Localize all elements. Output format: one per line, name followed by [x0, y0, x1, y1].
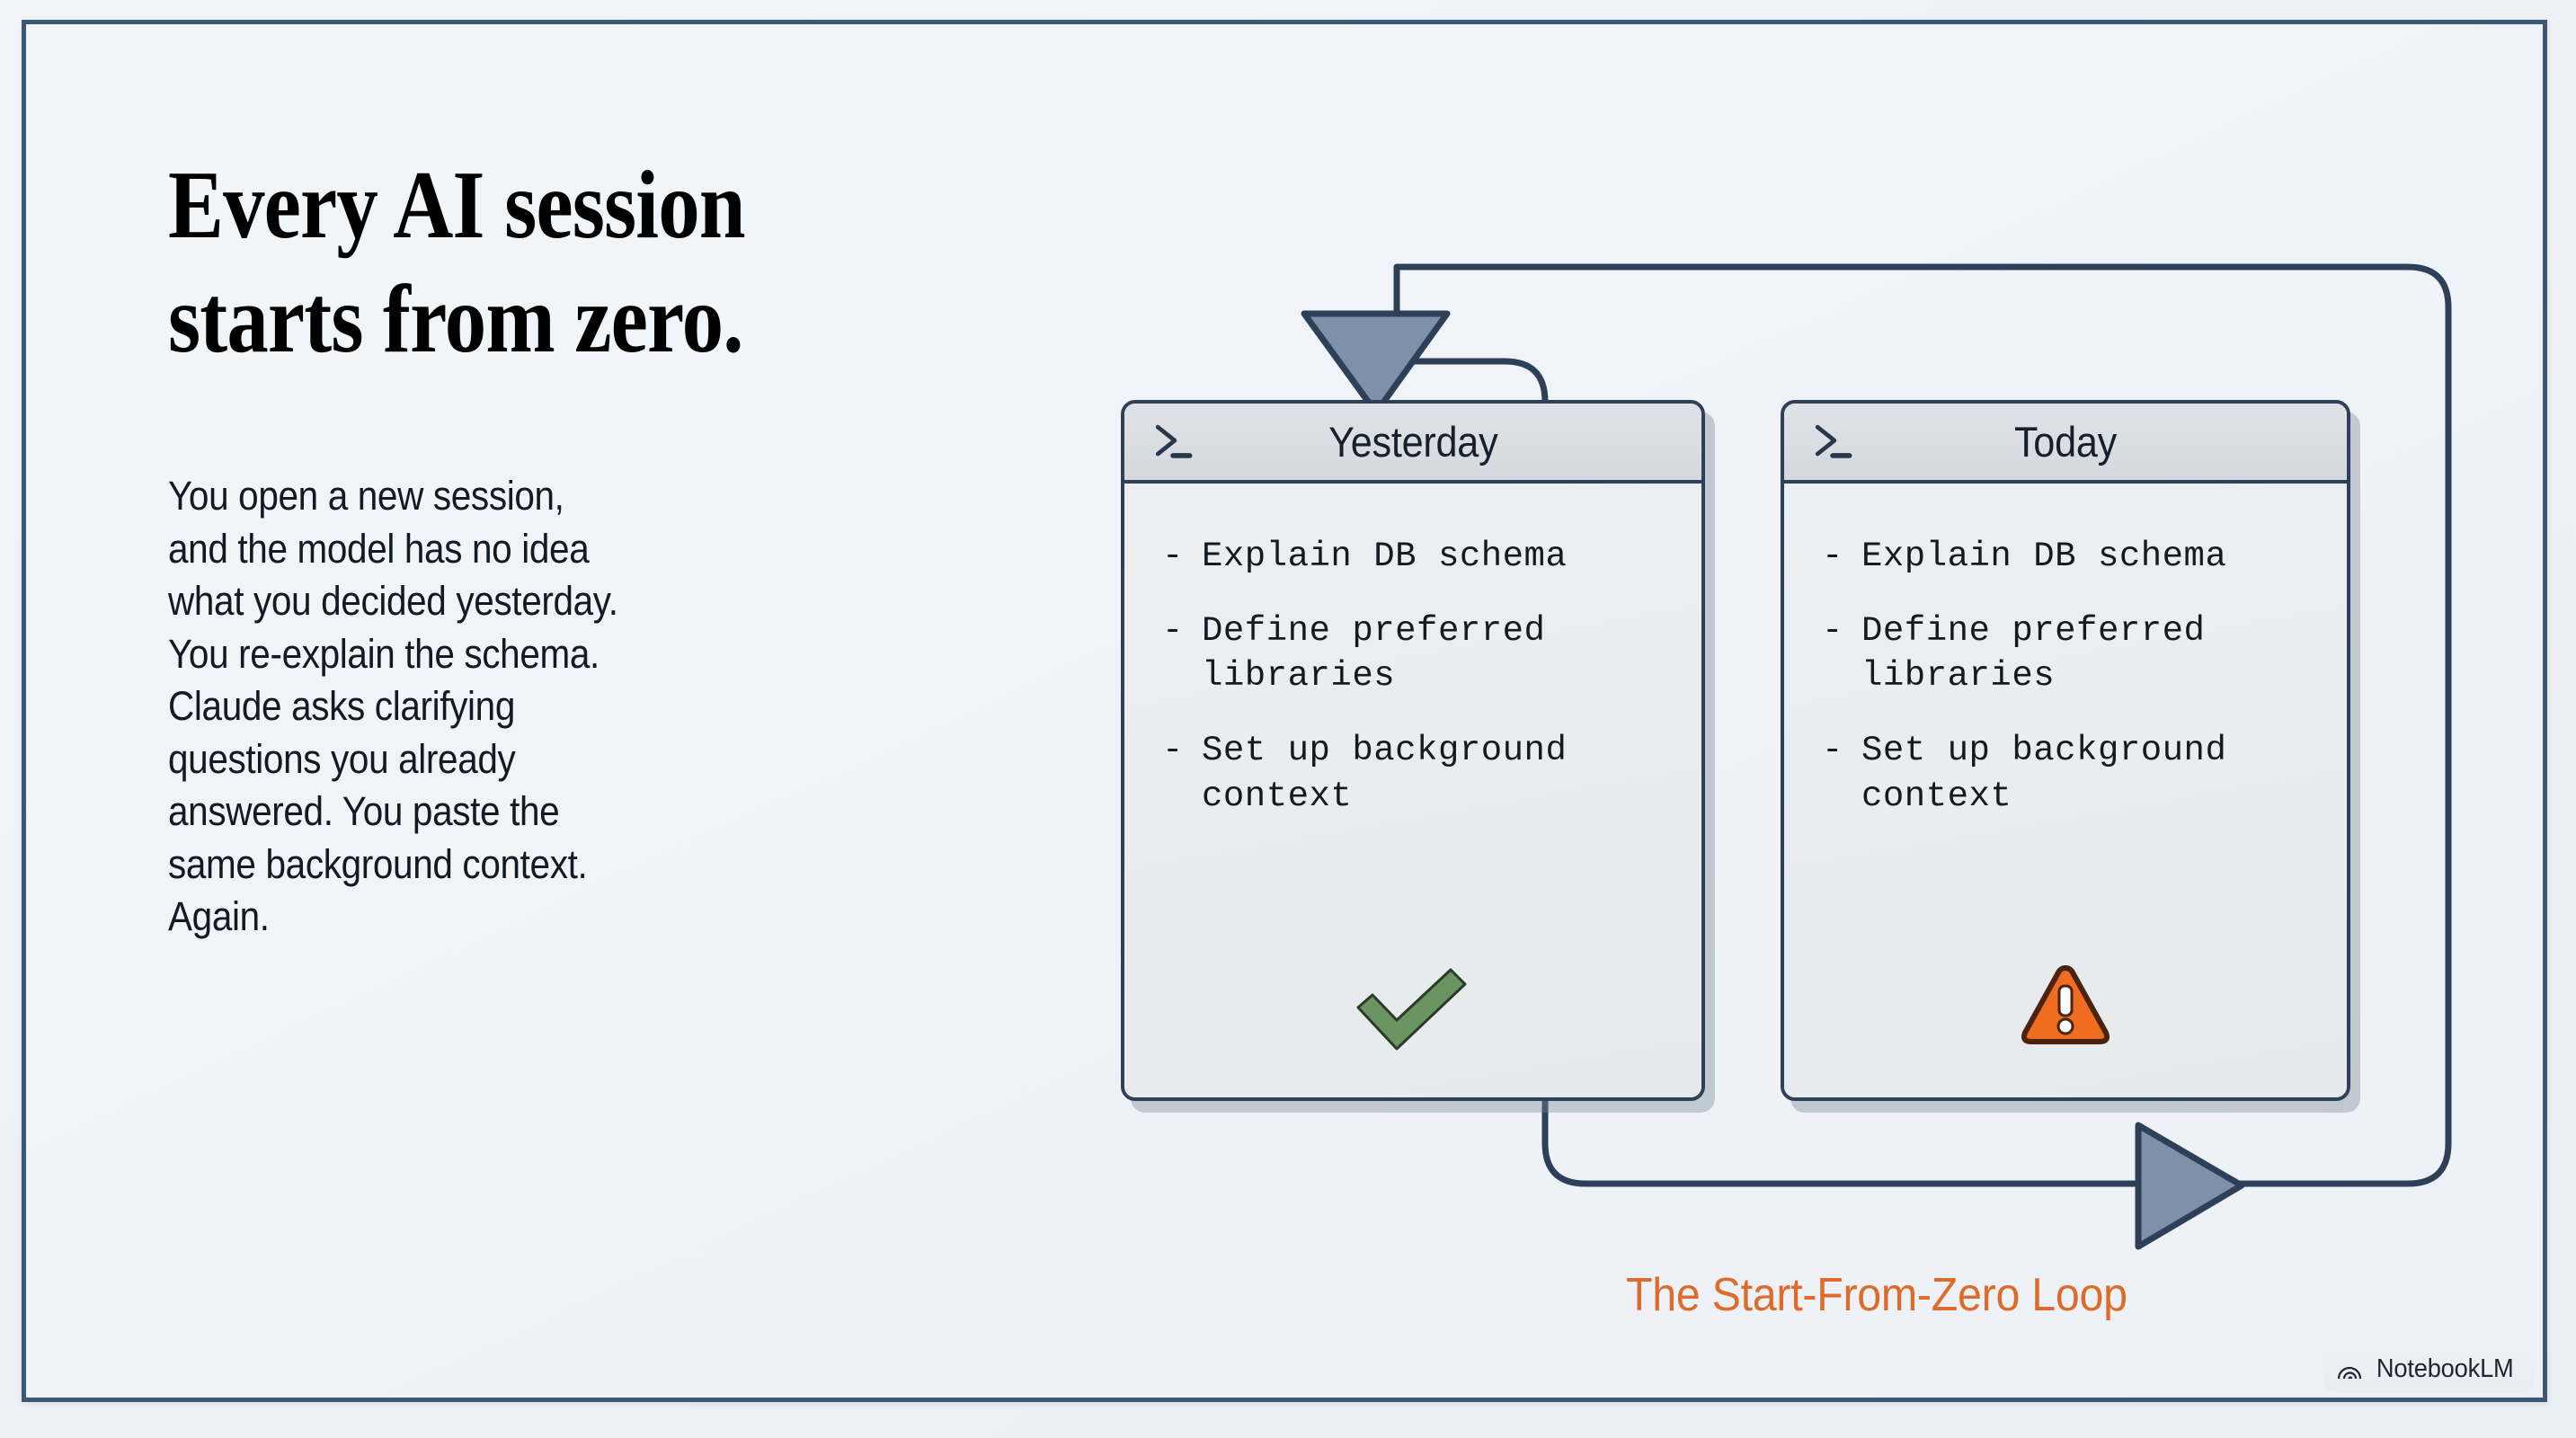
terminal-card-yesterday[interactable]: Yesterday - Explain DB schema - Define p…	[1121, 400, 1705, 1101]
list-item: - Explain DB schema	[1815, 534, 2316, 580]
terminal-card-today[interactable]: Today - Explain DB schema - Define prefe…	[1781, 400, 2350, 1101]
notebooklm-watermark: NotebookLM	[2323, 1346, 2534, 1392]
list-item: - Set up background context	[1155, 728, 1671, 819]
bullet-dash: -	[1822, 608, 1843, 654]
terminal-prompt-icon	[1808, 417, 1858, 467]
bullet-dash: -	[1822, 534, 1843, 580]
list-item-label: Set up background context	[1202, 731, 1567, 816]
task-list: - Explain DB schema - Define preferred l…	[1815, 534, 2316, 819]
bullet-dash: -	[1162, 534, 1184, 580]
slide-frame: Every AI session starts from zero. You o…	[22, 20, 2547, 1402]
body-paragraph: You open a new session, and the model ha…	[168, 470, 621, 944]
terminal-prompt-icon	[1148, 417, 1198, 467]
warning-triangle-icon	[2017, 961, 2114, 1051]
bullet-dash: -	[1162, 608, 1184, 654]
card-title: Today	[2014, 417, 2117, 466]
list-item-label: Define preferred libraries	[1202, 611, 1545, 697]
list-item: - Define preferred libraries	[1815, 608, 2316, 699]
bullet-dash: -	[1822, 728, 1843, 774]
list-item-label: Define preferred libraries	[1861, 611, 2205, 697]
loop-caption: The Start-From-Zero Loop	[1626, 1268, 2127, 1322]
page-title: Every AI session starts from zero.	[168, 148, 848, 377]
slide-canvas: Every AI session starts from zero. You o…	[0, 0, 2576, 1438]
task-list: - Explain DB schema - Define preferred l…	[1155, 534, 1671, 819]
card-body: - Explain DB schema - Define preferred l…	[1784, 484, 2347, 1101]
list-item: - Set up background context	[1815, 728, 2316, 819]
list-item: - Define preferred libraries	[1155, 608, 1671, 699]
check-mark-icon	[1346, 961, 1480, 1051]
notebooklm-logo-icon	[2336, 1356, 2363, 1383]
list-item-label: Explain DB schema	[1861, 537, 2226, 576]
card-title: Yesterday	[1328, 417, 1497, 466]
list-item: - Explain DB schema	[1155, 534, 1671, 580]
card-header: Today	[1784, 404, 2347, 484]
list-item-label: Set up background context	[1861, 731, 2226, 816]
text-column: Every AI session starts from zero. You o…	[168, 148, 959, 377]
card-header: Yesterday	[1124, 404, 1701, 484]
list-item-label: Explain DB schema	[1202, 537, 1567, 576]
bullet-dash: -	[1162, 728, 1184, 774]
card-body: - Explain DB schema - Define preferred l…	[1124, 484, 1701, 1101]
notebooklm-label: NotebookLM	[2376, 1354, 2513, 1384]
